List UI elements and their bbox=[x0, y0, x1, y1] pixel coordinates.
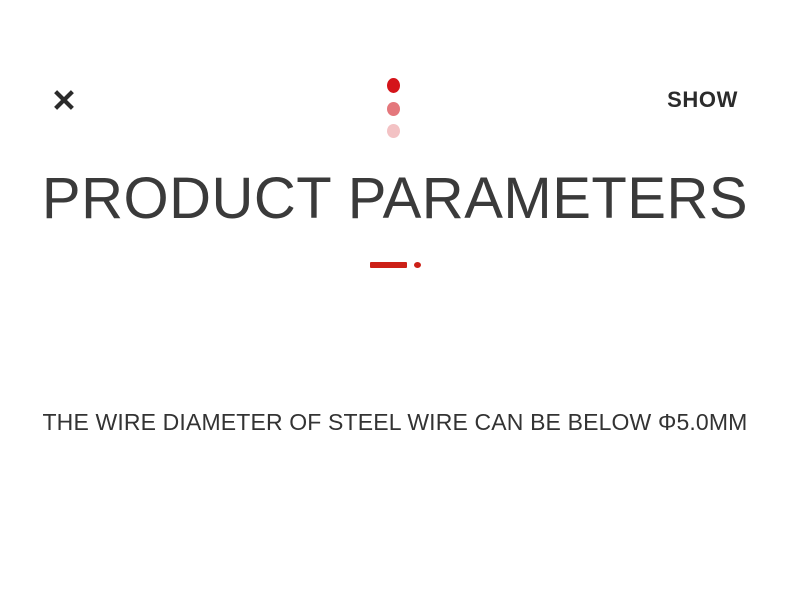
product-parameter-text: THE WIRE DIAMETER OF STEEL WIRE CAN BE B… bbox=[0, 406, 790, 438]
dot-indicator-group[interactable] bbox=[379, 78, 407, 144]
close-x-icon bbox=[52, 88, 76, 112]
dot-indicator-1[interactable] bbox=[387, 78, 400, 93]
divider-dot bbox=[414, 262, 421, 268]
close-button[interactable] bbox=[46, 82, 82, 118]
page-title: PRODUCT PARAMETERS bbox=[0, 166, 790, 232]
divider-line bbox=[370, 262, 407, 268]
dot-indicator-2[interactable] bbox=[387, 102, 400, 116]
header-bar: SHOW bbox=[0, 0, 790, 160]
show-button[interactable]: SHOW bbox=[667, 86, 738, 114]
title-divider bbox=[0, 262, 790, 268]
dot-indicator-3[interactable] bbox=[387, 124, 400, 138]
page-root: SHOW PRODUCT PARAMETERS THE WIRE DIAMETE… bbox=[0, 0, 790, 616]
